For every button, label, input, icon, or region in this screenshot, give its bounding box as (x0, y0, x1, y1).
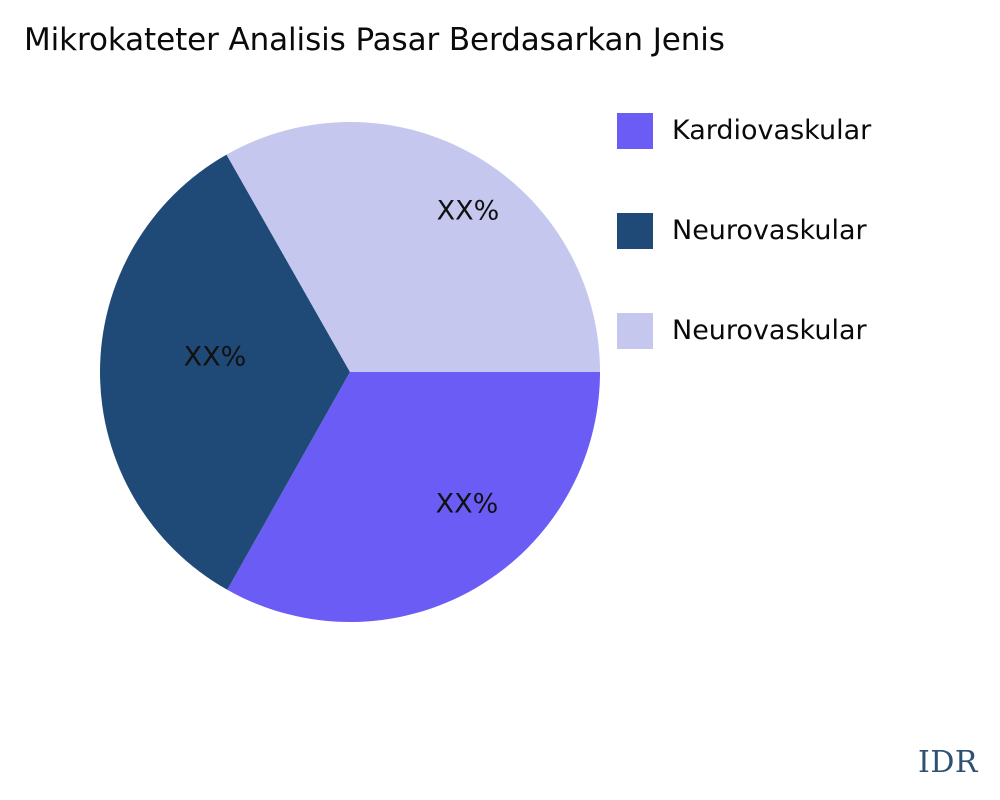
pie-slice-value-label: XX% (184, 342, 247, 373)
legend-item-label: Neurovaskular (672, 209, 867, 253)
watermark-idr: IDR (918, 745, 978, 780)
legend-item[interactable]: Neurovaskular (617, 313, 987, 413)
pie-slice-value-label: XX% (436, 489, 499, 520)
legend-color-swatch (617, 113, 653, 149)
pie-slice-value-label: XX% (437, 196, 500, 227)
pie-slice-group (100, 122, 600, 622)
legend-color-swatch (617, 313, 653, 349)
chart-legend: KardiovaskularNeurovaskularNeurovaskular (617, 113, 987, 413)
legend-color-swatch (617, 213, 653, 249)
legend-item-label: Neurovaskular (672, 309, 867, 353)
legend-item[interactable]: Kardiovaskular (617, 113, 987, 213)
legend-item-label: Kardiovaskular (672, 109, 871, 153)
legend-item[interactable]: Neurovaskular (617, 213, 987, 313)
pie-chart-figure: Mikrokateter Analisis Pasar Berdasarkan … (0, 0, 1000, 800)
